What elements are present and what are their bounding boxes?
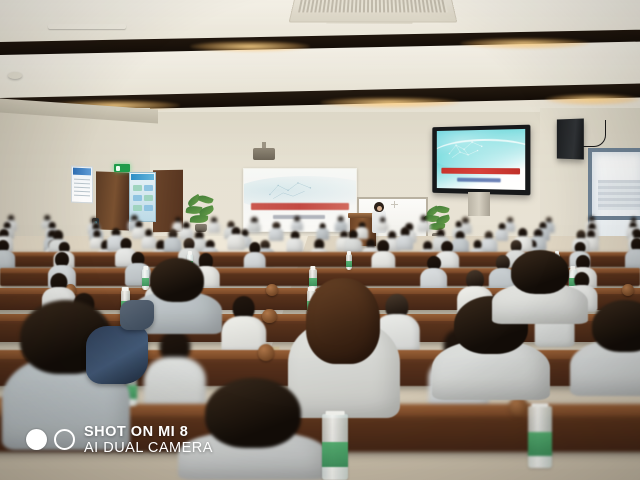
- bottle-cap: [326, 411, 345, 415]
- draped-jacket: [120, 300, 154, 330]
- figure-head: [592, 300, 640, 352]
- figure-head: [205, 378, 301, 448]
- water-bottle: [322, 414, 348, 480]
- figure-hair: [306, 278, 380, 364]
- foreground-attendee-near-center: [178, 378, 328, 480]
- bottle-label: [322, 442, 348, 467]
- bottle-label: [528, 432, 552, 456]
- bottle-cap: [531, 403, 548, 407]
- figure-head: [150, 258, 204, 302]
- foreground-attendee-far-right: [570, 300, 640, 396]
- draped-jacket: [86, 326, 148, 384]
- photo-scene: SHOT ON MI 8 AI DUAL CAMERA: [0, 0, 640, 480]
- figure-head: [511, 250, 569, 294]
- water-bottle: [528, 406, 552, 468]
